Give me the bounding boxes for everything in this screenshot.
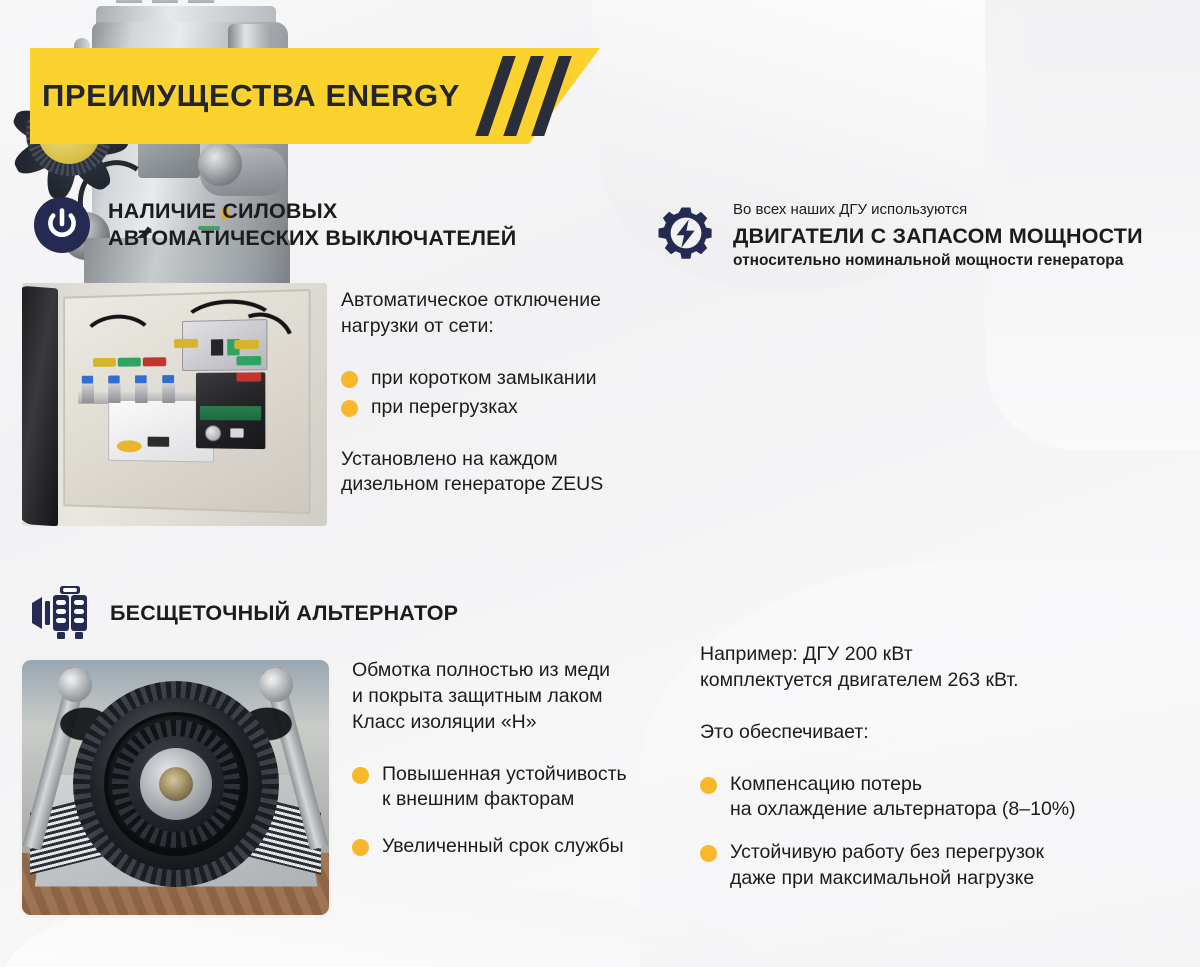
engine-bullet-list: Компенсацию потерь на охлаждение альтерн…: [700, 772, 1180, 891]
engine-text-block: Например: ДГУ 200 кВт комплектуется двиг…: [700, 642, 1180, 891]
controller-label-band: [200, 406, 261, 420]
breakers-bullet-list: при коротком замыкании при перегрузках: [341, 366, 671, 421]
alternator-bullet-list: Повышенная устойчивость к внешним фактор…: [352, 762, 674, 860]
engine-eyebrow: Во всех наших ДГУ используются: [733, 200, 1143, 220]
controller-knob: [205, 425, 221, 441]
rotor-ring: [108, 716, 244, 852]
breakers-intro-line2: нагрузки от сети:: [341, 314, 671, 340]
stator-ring: [78, 686, 274, 882]
terminal: [108, 381, 120, 403]
bullet-text: Компенсацию потерь на охлаждение альтерн…: [730, 772, 1076, 823]
bullet-text: Устойчивую работу без перегрузок даже пр…: [730, 840, 1044, 891]
list-item: Увеличенный срок службы: [352, 834, 674, 859]
cabinet-interior: [63, 289, 310, 514]
brushless-alternator-photo: [22, 660, 329, 915]
bullet-dot-icon: [700, 845, 717, 862]
breakers-text-block: Автоматическое отключение нагрузки от се…: [341, 288, 671, 498]
bullet-text-line2: к внешним факторам: [382, 787, 627, 812]
terminal-cap-blue: [162, 375, 174, 383]
alternator-icon: [30, 585, 92, 641]
valve-cover-bump: [152, 0, 178, 3]
bullet-text-line2: даже при максимальной нагрузке: [730, 866, 1044, 891]
bullet-text-line2: на охлаждение альтернатора (8–10%): [730, 797, 1076, 822]
engine-example-line1: Например: ДГУ 200 кВт: [700, 642, 1180, 668]
engine-provides-label: Это обеспечивает:: [700, 720, 1180, 746]
list-item: при коротком замыкании: [341, 366, 671, 391]
engine-example-line2: комплектуется двигателем 263 кВт.: [700, 668, 1180, 694]
section-header-alternator: БЕСЩЕТОЧНЫЙ АЛЬТЕРНАТОР: [30, 585, 458, 641]
alternator-intro-line1: Обмотка полностью из меди: [352, 658, 674, 684]
terminal-cap-blue: [135, 375, 147, 383]
bullet-text: Повышенная устойчивость к внешним фактор…: [382, 762, 627, 813]
alternator-text-block: Обмотка полностью из меди и покрыта защи…: [352, 658, 674, 860]
breakers-footer-line2: дизельном генераторе ZEUS: [341, 472, 671, 498]
bullet-dot-icon: [341, 400, 358, 417]
shaft-center: [159, 767, 193, 801]
list-item: при перегрузках: [341, 395, 671, 420]
alternator-intro-line3: Класс изоляции «Н»: [352, 710, 674, 736]
electrical-cabinet-photo: [22, 283, 327, 526]
valve-cover-bump: [116, 0, 142, 3]
ats-badge: [117, 440, 142, 452]
bullet-dot-icon: [352, 767, 369, 784]
ats-controller: [196, 372, 265, 449]
valve-cover-bump: [188, 0, 214, 3]
breakers-footer: Установлено на каждом дизельном генерато…: [341, 447, 671, 499]
section-header-breakers: НАЛИЧИЕ СИЛОВЫХ АВТОМАТИЧЕСКИХ ВЫКЛЮЧАТЕ…: [34, 197, 516, 253]
shaft-hub: [140, 748, 212, 820]
gear-bolt-icon: [657, 206, 715, 264]
bullet-text-line1: Устойчивую работу без перегрузок: [730, 840, 1044, 865]
power-button-icon: [34, 197, 90, 253]
alternator-intro: Обмотка полностью из меди и покрыта защи…: [352, 658, 674, 736]
breakers-footer-line1: Установлено на каждом: [341, 447, 671, 473]
section-title-line2: АВТОМАТИЧЕСКИХ ВЫКЛЮЧАТЕЛЕЙ: [108, 225, 516, 252]
controller-indicator: [230, 428, 243, 437]
engine-subtitle: относительно номинальной мощности генера…: [733, 252, 1143, 270]
terminal: [82, 382, 94, 403]
list-item: Повышенная устойчивость к внешним фактор…: [352, 762, 674, 813]
page-title: ПРЕИМУЩЕСТВА ENERGY: [42, 78, 460, 114]
section-title-alternator: БЕСЩЕТОЧНЫЙ АЛЬТЕРНАТОР: [110, 600, 458, 627]
bullet-text-line1: Компенсацию потерь: [730, 772, 1076, 797]
engine-example: Например: ДГУ 200 кВт комплектуется двиг…: [700, 642, 1180, 694]
header-banner: ПРЕИМУЩЕСТВА ENERGY: [30, 48, 600, 144]
bullet-text: Увеличенный срок службы: [382, 834, 624, 859]
section-title-breakers: НАЛИЧИЕ СИЛОВЫХ АВТОМАТИЧЕСКИХ ВЫКЛЮЧАТЕ…: [108, 198, 516, 251]
alternator-intro-line2: и покрыта защитным лаком: [352, 684, 674, 710]
engine-title: ДВИГАТЕЛИ С ЗАПАСОМ МОЩНОСТИ: [733, 223, 1143, 250]
section-title-line1: НАЛИЧИЕ СИЛОВЫХ: [108, 198, 516, 225]
ats-display: [148, 437, 170, 447]
breakers-intro-line1: Автоматическое отключение: [341, 288, 671, 314]
bullet-text: при перегрузках: [371, 395, 518, 420]
bullet-text-line1: Повышенная устойчивость: [382, 762, 627, 787]
cabinet-door: [22, 286, 58, 526]
terminal-cap-blue: [82, 376, 93, 384]
list-item: Компенсацию потерь на охлаждение альтерн…: [700, 772, 1180, 823]
breakers-intro: Автоматическое отключение нагрузки от се…: [341, 288, 671, 340]
bullet-dot-icon: [700, 777, 717, 794]
bullet-text: при коротком замыкании: [371, 366, 597, 391]
mount-boss-right: [259, 668, 293, 702]
bullet-dot-icon: [352, 839, 369, 856]
bullet-dot-icon: [341, 371, 358, 388]
section-header-engine: Во всех наших ДГУ используются ДВИГАТЕЛИ…: [657, 200, 1143, 270]
list-item: Устойчивую работу без перегрузок даже пр…: [700, 840, 1180, 891]
engine-title-group: Во всех наших ДГУ используются ДВИГАТЕЛИ…: [733, 200, 1143, 270]
mount-boss-left: [58, 668, 92, 702]
terminal: [135, 381, 148, 403]
alternator-pulley: [198, 142, 242, 186]
terminal: [162, 381, 175, 403]
terminal-cap-blue: [108, 375, 119, 383]
cable-lug-red: [236, 372, 261, 381]
